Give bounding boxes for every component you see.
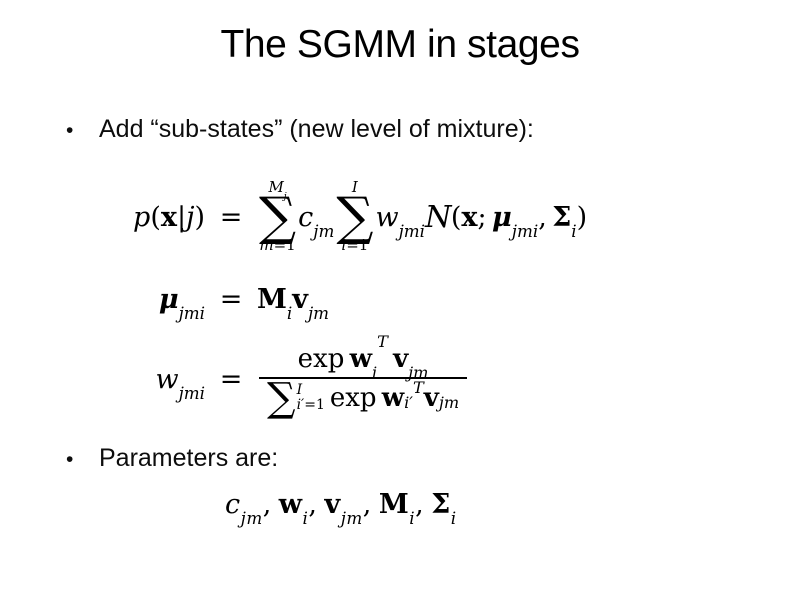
summation-over-m: Mj ∑ m=1 <box>259 180 296 254</box>
weight-w-jmi: wjmi <box>375 202 425 233</box>
equation-weight-lhs: wjmi <box>55 364 205 395</box>
equation-block: p(x|j) = Mj ∑ m=1 cjm I ∑ i=1 wjmi N (x;… <box>55 163 775 433</box>
parameter-M-i: Mi, <box>379 489 424 520</box>
bullet-item-add-sub-states: • Add “sub-states” (new level of mixture… <box>66 113 534 147</box>
equation-weight-relation: = <box>205 364 257 395</box>
summation-over-i: I ∑ i=1 <box>336 180 373 254</box>
slide-canvas: The SGMM in stages • Add “sub-states” (n… <box>0 0 800 599</box>
equation-weight-rhs: exp wiT vjm ∑ I i′=1 exp wi′Tvjm <box>257 344 469 414</box>
equation-density-lhs: p(x|j) <box>55 202 205 233</box>
sum-lower-limit-m1: m=1 <box>259 238 295 254</box>
sigma-operator-icon: ∑ <box>259 196 296 239</box>
equation-mean: μjmi = Mivjm <box>55 271 775 327</box>
bullet-text: Add “sub-states” (new level of mixture): <box>99 113 534 145</box>
matrix-M-i: Mi <box>257 284 292 315</box>
parameter-sigma-i: Σi <box>431 489 456 520</box>
parameter-c-jm: cjm, <box>225 489 272 520</box>
summation-over-i-prime: ∑ I i′=1 <box>267 382 325 414</box>
coefficient-c-jm: cjm <box>298 202 334 233</box>
equation-density-relation: = <box>205 202 257 233</box>
sum-upper-limit-I: I <box>297 383 303 398</box>
equation-weight: wjmi = exp wiT vjm ∑ I i′=1 <box>55 327 775 431</box>
page-title: The SGMM in stages <box>0 22 800 68</box>
bullet-item-parameters-are: • Parameters are: <box>66 442 278 476</box>
equation-mean-lhs: μjmi <box>55 284 205 315</box>
bullet-marker-icon: • <box>66 444 99 476</box>
sigma-operator-icon: ∑ <box>336 196 373 239</box>
bullet-marker-icon: • <box>66 115 99 147</box>
equation-mean-relation: = <box>205 284 257 315</box>
vector-v-jm: vjm <box>292 284 329 315</box>
fraction-numerator: exp wiT vjm <box>290 344 437 377</box>
equation-density: p(x|j) = Mj ∑ m=1 cjm I ∑ i=1 wjmi N (x;… <box>55 163 775 271</box>
sum-lower-limit-i1: i=1 <box>341 238 368 254</box>
gaussian-arguments: (x; μjmi, Σi) <box>451 202 587 233</box>
bullet-text: Parameters are: <box>99 442 278 474</box>
fraction-denominator: ∑ I i′=1 exp wi′Tvjm <box>259 379 467 414</box>
sigma-operator-icon: ∑ <box>267 382 296 414</box>
parameters-list: cjm,wi,vjm,Mi,Σi <box>225 489 457 520</box>
parameter-w-i: wi, <box>279 489 318 520</box>
softmax-fraction: exp wiT vjm ∑ I i′=1 exp wi′Tvjm <box>259 344 467 414</box>
sum-lower-limit-iprime1: i′=1 <box>297 398 325 413</box>
equation-mean-rhs: Mivjm <box>257 284 329 315</box>
equation-density-rhs: Mj ∑ m=1 cjm I ∑ i=1 wjmi N (x; μjmi, Σi… <box>257 180 587 254</box>
parameter-v-jm: vjm, <box>324 489 371 520</box>
gaussian-N-symbol: N <box>425 200 451 235</box>
sum-limits: I i′=1 <box>297 383 325 413</box>
